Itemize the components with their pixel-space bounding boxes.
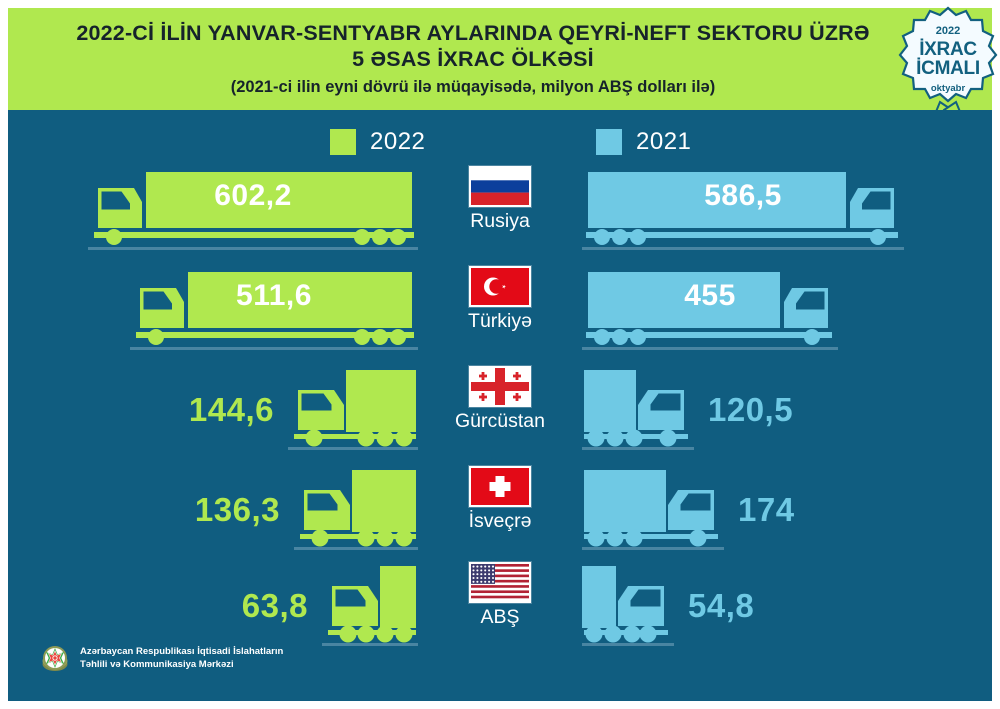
legend-swatch-2022 [330, 129, 356, 155]
legend-label-2022: 2022 [370, 128, 425, 156]
truck-2021-icon: 586,5 [582, 168, 904, 252]
country-block: Rusiya [434, 166, 566, 258]
bar-2022-türkiyə: 511,6 [8, 262, 434, 358]
chart-panel: 2022 2021 602,2Rusiya586,5511,6Türkiyə45… [8, 110, 992, 701]
value-label-2021: 54,8 [688, 587, 754, 625]
legend-item-2021: 2021 [596, 128, 691, 156]
legend-item-2022: 2022 [330, 128, 425, 156]
bar-2021-rusiya: 586,5 [566, 162, 992, 258]
truck-2021-icon [582, 468, 724, 552]
bar-2022-abş: 63,8 [8, 558, 434, 654]
country-name: ABŞ [480, 606, 519, 629]
bar-2021-i̇sveçrə: 174 [566, 462, 992, 558]
truck-2021-icon: 455 [582, 268, 838, 352]
infographic-page: 2022-Cİ İLİN YANVAR-SENTYABR AYLARINDA Q… [0, 0, 1000, 709]
truck-2021-icon [582, 564, 674, 648]
country-block: ABŞ [434, 562, 566, 654]
value-label-2021: 174 [738, 491, 795, 529]
country-name: İsveçrə [469, 510, 532, 533]
chart-legend: 2022 2021 [8, 128, 992, 162]
flag-georgia [469, 366, 531, 407]
truck-2022-icon [294, 468, 418, 552]
country-name: Gürcüstan [455, 410, 545, 433]
flag-switzerland [469, 466, 531, 507]
truck-2022-icon: 511,6 [130, 268, 418, 352]
value-label-2022: 63,8 [242, 587, 308, 625]
flag-usa [469, 562, 531, 603]
footer-line2: Təhlili və Kommunikasiya Mərkəzi [80, 659, 283, 672]
legend-label-2021: 2021 [636, 128, 691, 156]
header-title-block: 2022-Cİ İLİN YANVAR-SENTYABR AYLARINDA Q… [8, 8, 908, 110]
footer-organization: Azərbaycan Respublikası İqtisadi İslahat… [80, 646, 283, 672]
chart-row: 144,6Gürcüstan120,5 [8, 362, 992, 458]
page-subtitle: (2021-ci ilin eyni dövrü ilə müqayisədə,… [231, 78, 715, 97]
country-name: Rusiya [470, 210, 530, 233]
country-name: Türkiyə [468, 310, 532, 333]
page-title-line1: 2022-Cİ İLİN YANVAR-SENTYABR AYLARINDA Q… [76, 21, 869, 46]
bar-2022-i̇sveçrə: 136,3 [8, 462, 434, 558]
flag-turkey [469, 266, 531, 307]
bar-2021-türkiyə: 455 [566, 262, 992, 358]
chart-row: 136,3İsveçrə174 [8, 462, 992, 558]
truck-2022-icon [288, 368, 418, 452]
chart-row: 511,6Türkiyə455 [8, 262, 992, 358]
value-label-2021: 120,5 [708, 391, 793, 429]
bar-2021-gürcüstan: 120,5 [566, 362, 992, 458]
country-block: Türkiyə [434, 266, 566, 358]
truck-2021-icon [582, 368, 694, 452]
country-block: İsveçrə [434, 466, 566, 558]
country-block: Gürcüstan [434, 366, 566, 458]
chart-row: 602,2Rusiya586,5 [8, 162, 992, 258]
value-label-2022: 136,3 [195, 491, 280, 529]
bar-2022-rusiya: 602,2 [8, 162, 434, 258]
azerbaijan-emblem-icon [40, 644, 70, 674]
truck-2022-icon: 602,2 [88, 168, 418, 252]
flag-russia [469, 166, 531, 207]
header-banner: 2022-Cİ İLİN YANVAR-SENTYABR AYLARINDA Q… [8, 8, 992, 110]
footer: Azərbaycan Respublikası İqtisadi İslahat… [40, 644, 283, 674]
truck-2022-icon [322, 564, 418, 648]
bar-2021-abş: 54,8 [566, 558, 992, 654]
legend-swatch-2021 [596, 129, 622, 155]
footer-line1: Azərbaycan Respublikası İqtisadi İslahat… [80, 646, 283, 659]
bar-2022-gürcüstan: 144,6 [8, 362, 434, 458]
value-label-2022: 144,6 [189, 391, 274, 429]
chart-row: 63,8ABŞ54,8 [8, 558, 992, 654]
page-title-line2: 5 ƏSAS İXRAC ÖLKƏSİ [352, 47, 594, 72]
